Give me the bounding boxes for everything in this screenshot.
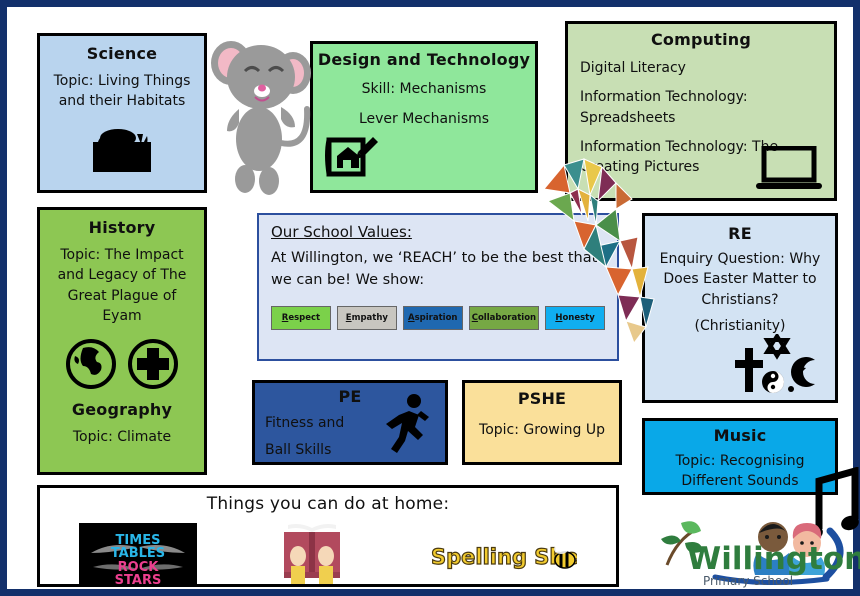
habitat-tree-icon [40,122,204,174]
subject-card-history-geography: History Topic: The Impact and Legacy of … [37,207,207,475]
subject-card-science: Science Topic: Living Things and their H… [37,33,207,193]
computing-title: Computing [568,30,834,49]
computing-line-1: Digital Literacy [568,58,834,78]
home-heading: Things you can do at home: [40,494,616,514]
dt-title: Design and Technology [313,50,535,69]
geography-title: Geography [40,400,204,419]
subject-card-design-technology: Design and Technology Skill: Mechanisms … [310,41,538,193]
subject-card-pe: PE Fitness and Ball Skills [252,380,448,465]
re-question: Enquiry Question: Why Does Easter Matter… [645,249,835,310]
dt-line-2: Lever Mechanisms [313,109,535,129]
svg-text:TABLES: TABLES [110,546,164,561]
history-topic: Topic: The Impact and Legacy of The Grea… [40,245,204,326]
spelling-shed-logo[interactable]: Spelling Shed [427,536,577,576]
value-chip-respect[interactable]: Respect [271,306,331,330]
pshe-title: PSHE [465,389,619,408]
school-subtitle-text: Primary School [703,574,793,588]
science-topic: Topic: Living Things and their Habitats [40,71,204,112]
svg-text:STARS: STARS [114,573,161,587]
runner-icon [383,393,431,455]
willington-primary-school-logo: Willington Primary School [655,507,860,596]
value-chip-aspiration-initial: A [408,313,415,323]
reading-book-icon[interactable] [274,518,350,587]
home-activities-panel: Things you can do at home: TIMES TABLES … [37,485,619,587]
faith-symbols-icon [733,334,821,396]
school-name-text: Willington [687,541,860,577]
times-tables-rock-stars-logo[interactable]: TIMES TABLES ROCK STARS [79,523,197,587]
laptop-icon [754,146,824,192]
geography-topic: Topic: Climate [40,427,204,447]
dt-line-1: Skill: Mechanisms [313,79,535,99]
curriculum-overview-poster: Science Topic: Living Things and their H… [0,0,860,596]
value-chip-respect-rest: espect [288,313,320,323]
pshe-topic: Topic: Growing Up [465,420,619,440]
blueprint-house-icon [325,134,381,182]
home-logo-list: TIMES TABLES ROCK STARS [40,518,616,587]
value-chip-empathy-rest: mpathy [352,313,388,323]
value-chip-collaboration-rest: ollaboration [478,313,536,323]
value-chip-aspiration[interactable]: Aspiration [403,306,463,330]
mouse-mascot-icon [203,11,315,211]
value-chip-aspiration-rest: spiration [415,313,458,323]
computing-line-2: Information Technology: Spreadsheets [568,87,834,128]
subject-card-re: RE Enquiry Question: Why Does Easter Mat… [642,213,838,403]
science-title: Science [40,44,204,63]
globe-icon [40,338,204,390]
value-chip-collaboration[interactable]: Collaboration [469,306,539,330]
history-title: History [40,218,204,237]
subject-card-pshe: PSHE Topic: Growing Up [462,380,622,465]
re-title: RE [645,224,835,243]
value-chip-empathy[interactable]: Empathy [337,306,397,330]
music-title: Music [645,426,835,445]
colorful-polygon-hand-icon [540,149,658,344]
